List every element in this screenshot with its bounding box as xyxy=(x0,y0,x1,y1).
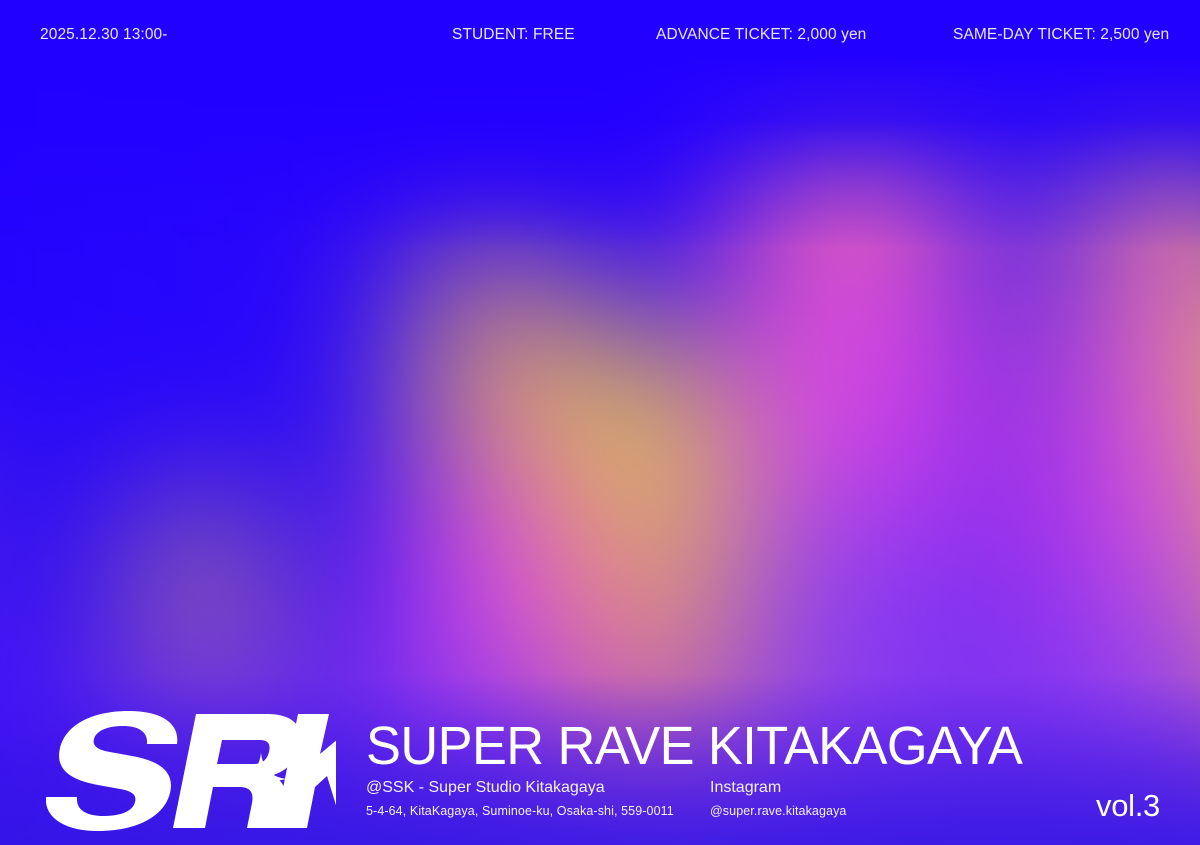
header-student-price: STUDENT: FREE xyxy=(452,22,575,48)
social-handle[interactable]: @super.rave.kitakagaya xyxy=(710,803,847,819)
venue-info: @SSK - Super Studio Kitakagaya 5-4-64, K… xyxy=(366,778,674,819)
plume-blue-notch xyxy=(957,0,1091,360)
social-platform: Instagram xyxy=(710,778,847,798)
poster-canvas: 2025.12.30 13:00- STUDENT: FREE ADVANCE … xyxy=(0,0,1200,845)
logo-letter-s xyxy=(46,711,177,831)
srk-logo xyxy=(46,707,336,831)
social-info[interactable]: Instagram @super.rave.kitakagaya xyxy=(710,778,847,819)
header-advance-price: ADVANCE TICKET: 2,000 yen xyxy=(656,22,866,48)
plume-blue-notch-left xyxy=(0,339,124,653)
header-bar: 2025.12.30 13:00- STUDENT: FREE ADVANCE … xyxy=(0,22,1200,48)
venue-address: 5-4-64, KitaKagaya, Suminoe-ku, Osaka-sh… xyxy=(366,803,674,819)
event-title: SUPER RAVE KITAKAGAYA xyxy=(366,719,1022,773)
footer-block: SUPER RAVE KITAKAGAYA @SSK - Super Studi… xyxy=(0,670,1200,845)
plume-blue-notch-mid xyxy=(288,255,422,548)
header-same-day-price: SAME-DAY TICKET: 2,500 yen xyxy=(953,22,1169,48)
header-date: 2025.12.30 13:00- xyxy=(40,22,168,48)
volume-number: vol.3 xyxy=(1096,790,1160,821)
venue-name: @SSK - Super Studio Kitakagaya xyxy=(366,778,674,798)
